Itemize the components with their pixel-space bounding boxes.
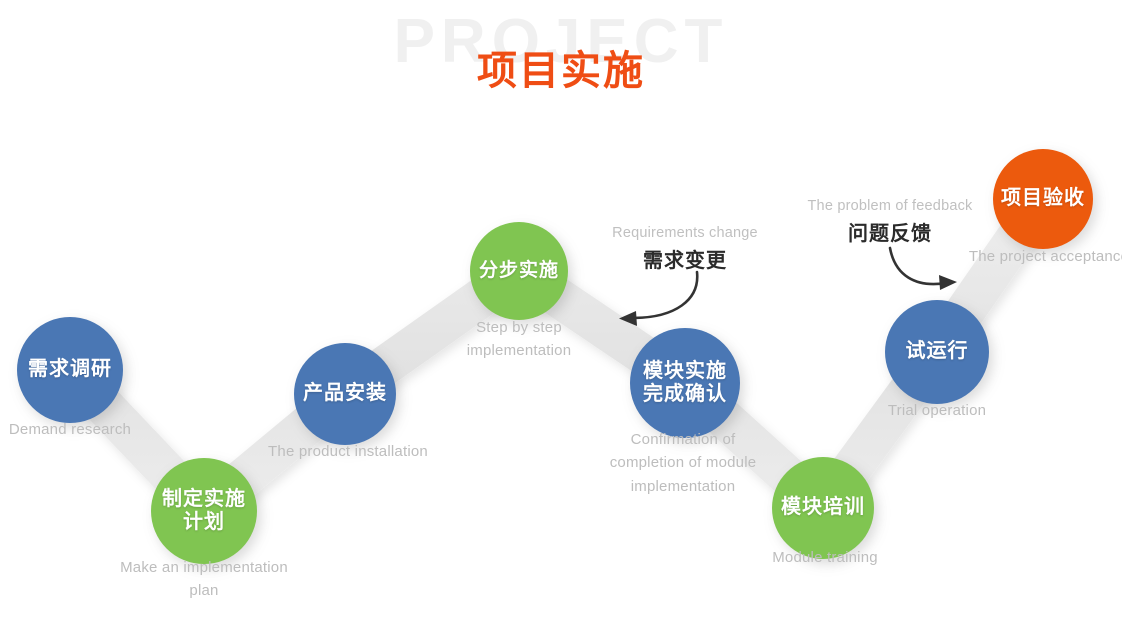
node-label: 制定实施 计划 (162, 488, 246, 534)
node-caption: Confirmation of completion of module imp… (578, 428, 788, 498)
annotation-problem-of-feedback: The problem of feedback问题反馈 (795, 198, 985, 246)
node-caption: The product installation (228, 440, 468, 463)
process-node-4[interactable]: 分步实施 (470, 222, 568, 320)
annotation-en-label: The problem of feedback (795, 198, 985, 214)
process-node-3[interactable]: 产品安装 (294, 343, 396, 445)
node-label: 分步实施 (479, 260, 559, 282)
annotation-requirements-change: Requirements change需求变更 (600, 225, 770, 273)
process-node-1[interactable]: 需求调研 (17, 317, 123, 423)
process-node-6[interactable]: 模块培训 (772, 457, 874, 559)
requirements-change-arrow (619, 272, 697, 326)
process-node-2[interactable]: 制定实施 计划 (151, 458, 257, 564)
annotation-cn-label: 需求变更 (600, 244, 770, 273)
annotation-en-label: Requirements change (600, 225, 770, 241)
process-node-7[interactable]: 试运行 (885, 300, 989, 404)
slide-canvas: PROJECT 项目实施 (0, 0, 1122, 617)
node-label: 模块培训 (781, 496, 865, 519)
node-label: 模块实施 完成确认 (643, 360, 727, 406)
process-node-5[interactable]: 模块实施 完成确认 (630, 328, 740, 438)
node-caption: Trial operation (837, 399, 1037, 422)
annotation-cn-label: 问题反馈 (795, 217, 985, 246)
node-label: 需求调研 (28, 358, 112, 381)
node-caption: Module training (715, 546, 935, 569)
node-label: 项目验收 (1001, 187, 1085, 210)
process-node-8[interactable]: 项目验收 (993, 149, 1093, 249)
node-caption: Make an implementation plan (89, 556, 319, 603)
node-caption: Demand research (0, 418, 180, 441)
node-label: 试运行 (906, 340, 969, 363)
node-label: 产品安装 (303, 382, 387, 405)
node-caption: The project acceptance (939, 245, 1122, 268)
node-caption: Step by step implementation (424, 316, 614, 363)
